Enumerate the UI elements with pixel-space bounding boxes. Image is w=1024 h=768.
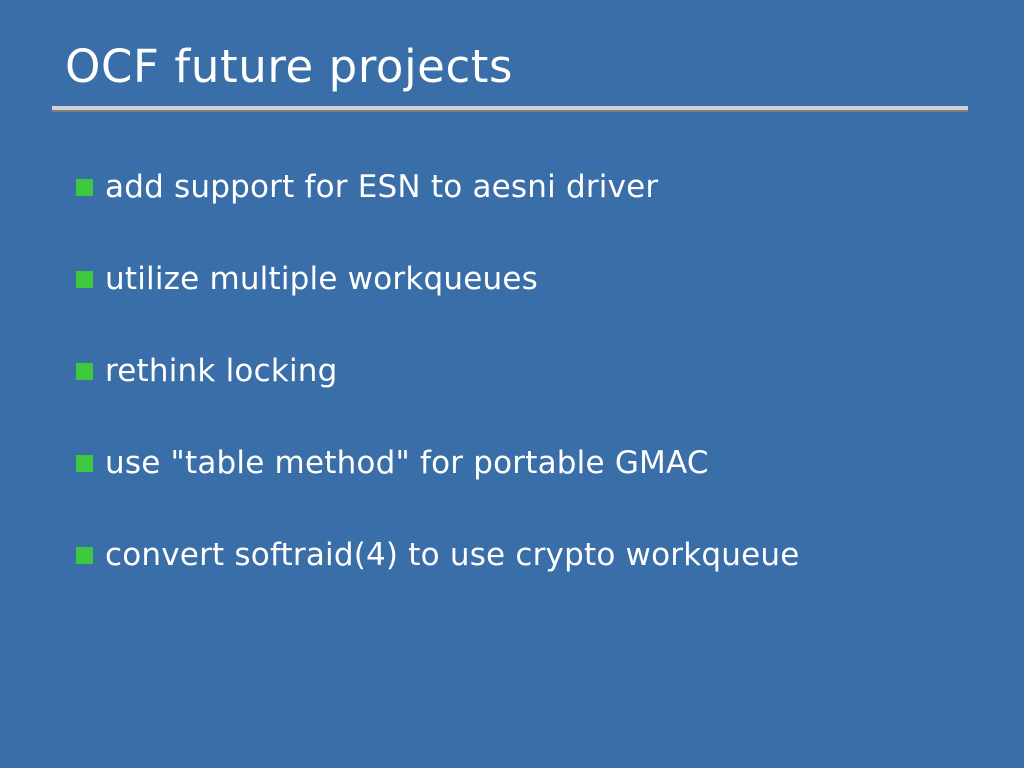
list-item: convert softraid(4) to use crypto workqu…: [76, 526, 996, 618]
list-item-label: utilize multiple workqueues: [105, 258, 996, 300]
presentation-slide: OCF future projects add support for ESN …: [0, 0, 1024, 768]
page-title: OCF future projects: [52, 38, 968, 96]
title-divider: [52, 106, 968, 112]
square-bullet-icon: [76, 547, 93, 564]
list-item: rethink locking: [76, 342, 996, 434]
list-item-label: use "table method" for portable GMAC: [105, 442, 996, 484]
list-item: use "table method" for portable GMAC: [76, 434, 996, 526]
list-item-label: rethink locking: [105, 350, 996, 392]
list-item-label: add support for ESN to aesni driver: [105, 166, 996, 208]
square-bullet-icon: [76, 455, 93, 472]
list-item-label: convert softraid(4) to use crypto workqu…: [105, 534, 996, 576]
square-bullet-icon: [76, 363, 93, 380]
title-block: OCF future projects: [52, 38, 968, 96]
list-item: add support for ESN to aesni driver: [76, 158, 996, 250]
list-item: utilize multiple workqueues: [76, 250, 996, 342]
title-divider-shadow: [52, 110, 968, 112]
square-bullet-icon: [76, 271, 93, 288]
bullet-list: add support for ESN to aesni driver util…: [76, 158, 996, 618]
square-bullet-icon: [76, 179, 93, 196]
